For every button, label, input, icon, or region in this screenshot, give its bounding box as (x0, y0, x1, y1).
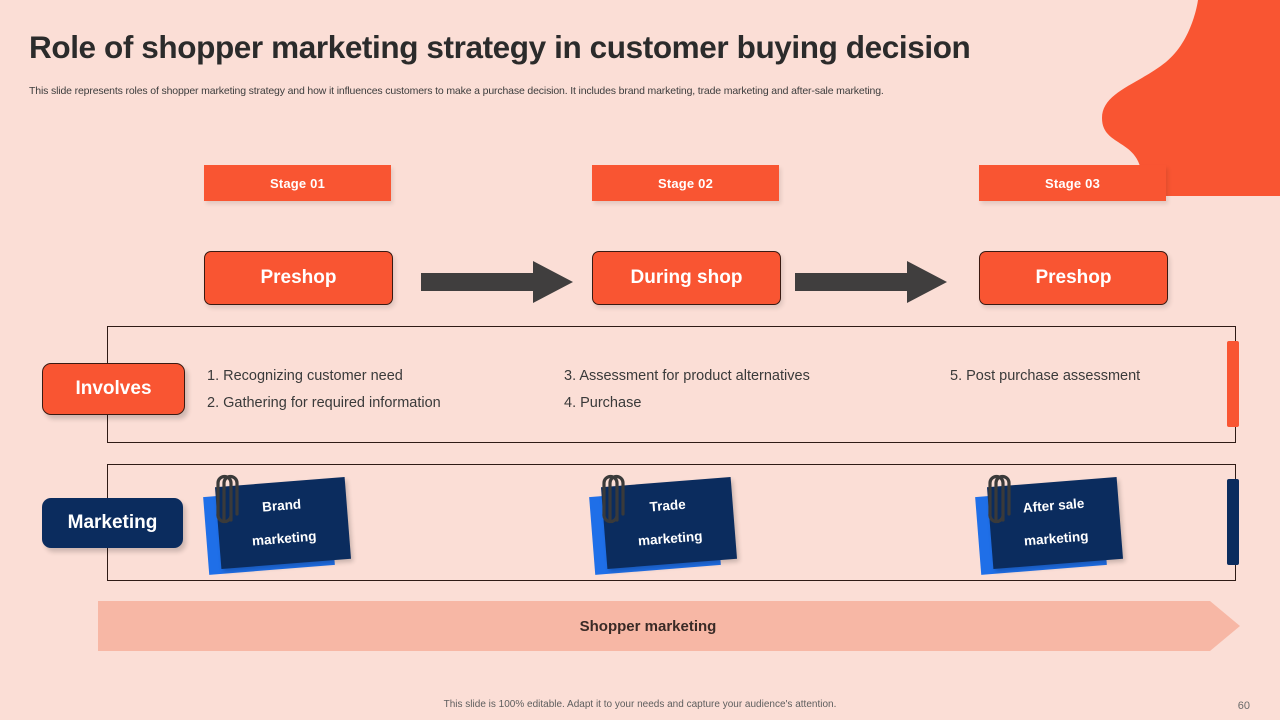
stage-tag-1[interactable]: Stage 01 (204, 165, 391, 201)
involves-item-2: 2. Gathering for required information (207, 395, 441, 411)
page-title: Role of shopper marketing strategy in cu… (29, 30, 1079, 65)
stage-box-3-label: Preshop (1035, 267, 1111, 289)
marketing-pill[interactable]: Marketing (42, 498, 183, 548)
card-after-sale-line2: marketing (1023, 529, 1089, 551)
involves-item-3: 3. Assessment for product alternatives (564, 368, 810, 384)
banner-label: Shopper marketing (98, 601, 1198, 651)
card-trade-line2: marketing (637, 529, 703, 551)
marketing-pill-label: Marketing (68, 512, 158, 534)
involves-item-1: 1. Recognizing customer need (207, 368, 403, 384)
stage-box-3[interactable]: Preshop (979, 251, 1168, 305)
stage-tag-1-label: Stage 01 (270, 176, 325, 191)
marketing-card-after-sale[interactable]: After sale marketing (978, 478, 1128, 578)
paperclip-icon (212, 470, 242, 526)
stage-tag-3-label: Stage 03 (1045, 176, 1100, 191)
paperclip-icon (598, 470, 628, 526)
marketing-card-trade[interactable]: Trade marketing (592, 478, 742, 578)
card-after-sale-label: After sale marketing (1021, 495, 1089, 551)
involves-pill[interactable]: Involves (42, 363, 185, 415)
paperclip-icon (984, 470, 1014, 526)
stage-box-2-label: During shop (631, 267, 743, 289)
card-trade-line1: Trade (635, 495, 701, 517)
stage-tag-2[interactable]: Stage 02 (592, 165, 779, 201)
stage-tag-3[interactable]: Stage 03 (979, 165, 1166, 201)
involves-item-4: 4. Purchase (564, 395, 641, 411)
footer-note: This slide is 100% editable. Adapt it to… (0, 699, 1280, 710)
stage-tag-2-label: Stage 02 (658, 176, 713, 191)
card-brand-label: Brand marketing (249, 495, 317, 551)
involves-pill-label: Involves (75, 378, 151, 400)
marketing-card-brand[interactable]: Brand marketing (206, 478, 356, 578)
involves-edge-bar (1227, 341, 1239, 427)
card-trade-label: Trade marketing (635, 495, 703, 551)
card-brand-line2: marketing (251, 529, 317, 551)
marketing-edge-bar (1227, 479, 1239, 565)
involves-frame (107, 326, 1236, 443)
stage-box-1[interactable]: Preshop (204, 251, 393, 305)
stage-box-1-label: Preshop (260, 267, 336, 289)
card-brand-line1: Brand (249, 495, 315, 517)
arrow-right-icon-1 (421, 261, 573, 303)
page-number: 60 (1238, 700, 1250, 712)
slide-canvas: Role of shopper marketing strategy in cu… (0, 0, 1280, 720)
stage-box-2[interactable]: During shop (592, 251, 781, 305)
shopper-marketing-banner[interactable]: Shopper marketing (98, 601, 1240, 651)
arrow-right-icon-2 (795, 261, 947, 303)
page-subtitle: This slide represents roles of shopper m… (29, 85, 1089, 99)
card-after-sale-line1: After sale (1021, 495, 1087, 517)
involves-item-5: 5. Post purchase assessment (950, 368, 1140, 384)
